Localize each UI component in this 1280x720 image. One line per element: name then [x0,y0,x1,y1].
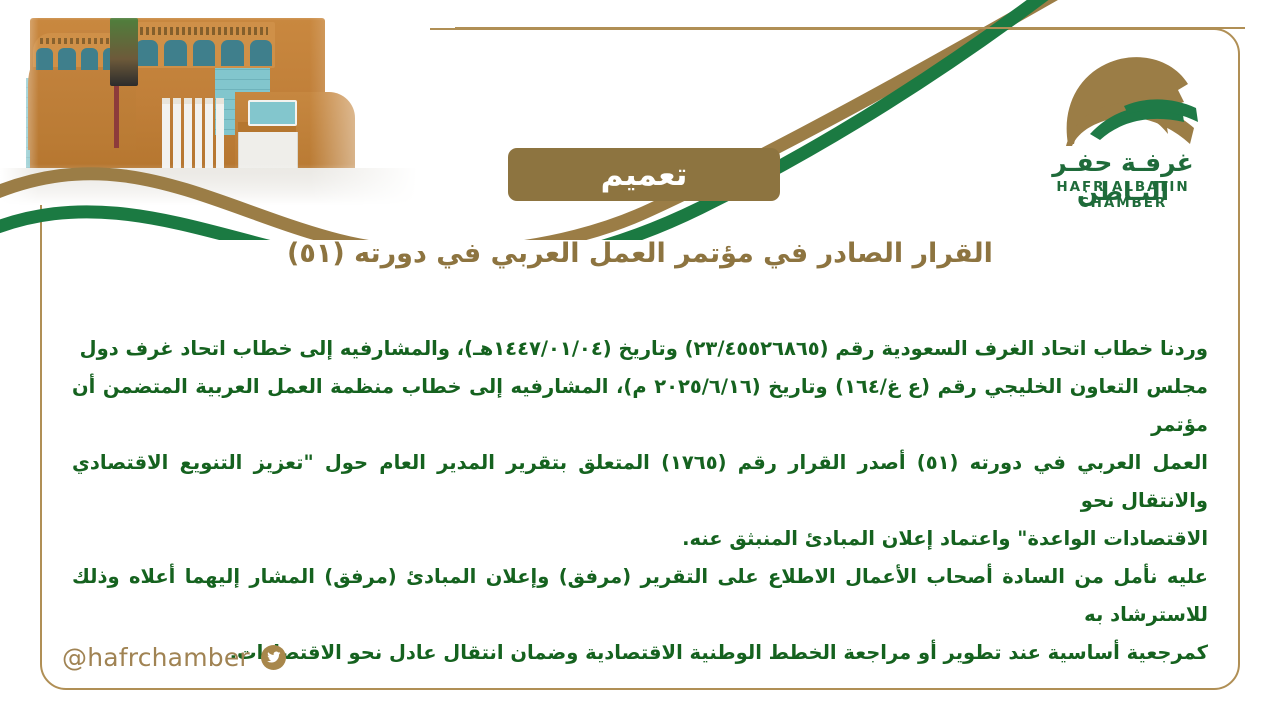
photo-fade-overlay [0,0,430,205]
body-line: مجلس التعاون الخليجي رقم (ع غ/١٦٤) وتاري… [72,368,1208,444]
twitter-icon[interactable] [261,645,286,670]
body-line: الاقتصادات الواعدة" واعتماد إعلان المباد… [72,520,1208,558]
twitter-handle[interactable]: @hafrchamber [62,643,250,672]
circular-banner: تعميم [508,148,780,201]
body-line: عليه نأمل من السادة أصحاب الأعمال الاطلا… [72,558,1208,634]
paragraph-1: وردنا خطاب اتحاد الغرف السعودية رقم (٢٣/… [72,330,1208,558]
body-line: العمل العربي في دورته (٥١) أصدر القرار ر… [72,444,1208,520]
twitter-bird-glyph [266,650,281,665]
announcement-body: وردنا خطاب اتحاد الغرف السعودية رقم (٢٣/… [72,330,1208,672]
chamber-gear-dunes-icon [1032,48,1214,153]
body-line: وردنا خطاب اتحاد الغرف السعودية رقم (٢٣/… [72,330,1208,368]
footer-social[interactable]: @hafrchamber [62,643,286,672]
circular-banner-label: تعميم [601,157,688,193]
announcement-page: غرفـة حفـر البـاطن HAFR ALBATIN CHAMBER … [0,0,1280,720]
chamber-building-photo [0,0,430,205]
page-title: القرار الصادر في مؤتمر العمل العربي في د… [60,238,1220,269]
logo-english-name: HAFR ALBATIN CHAMBER [1032,179,1214,211]
chamber-logo: غرفـة حفـر البـاطن HAFR ALBATIN CHAMBER [1032,48,1214,210]
